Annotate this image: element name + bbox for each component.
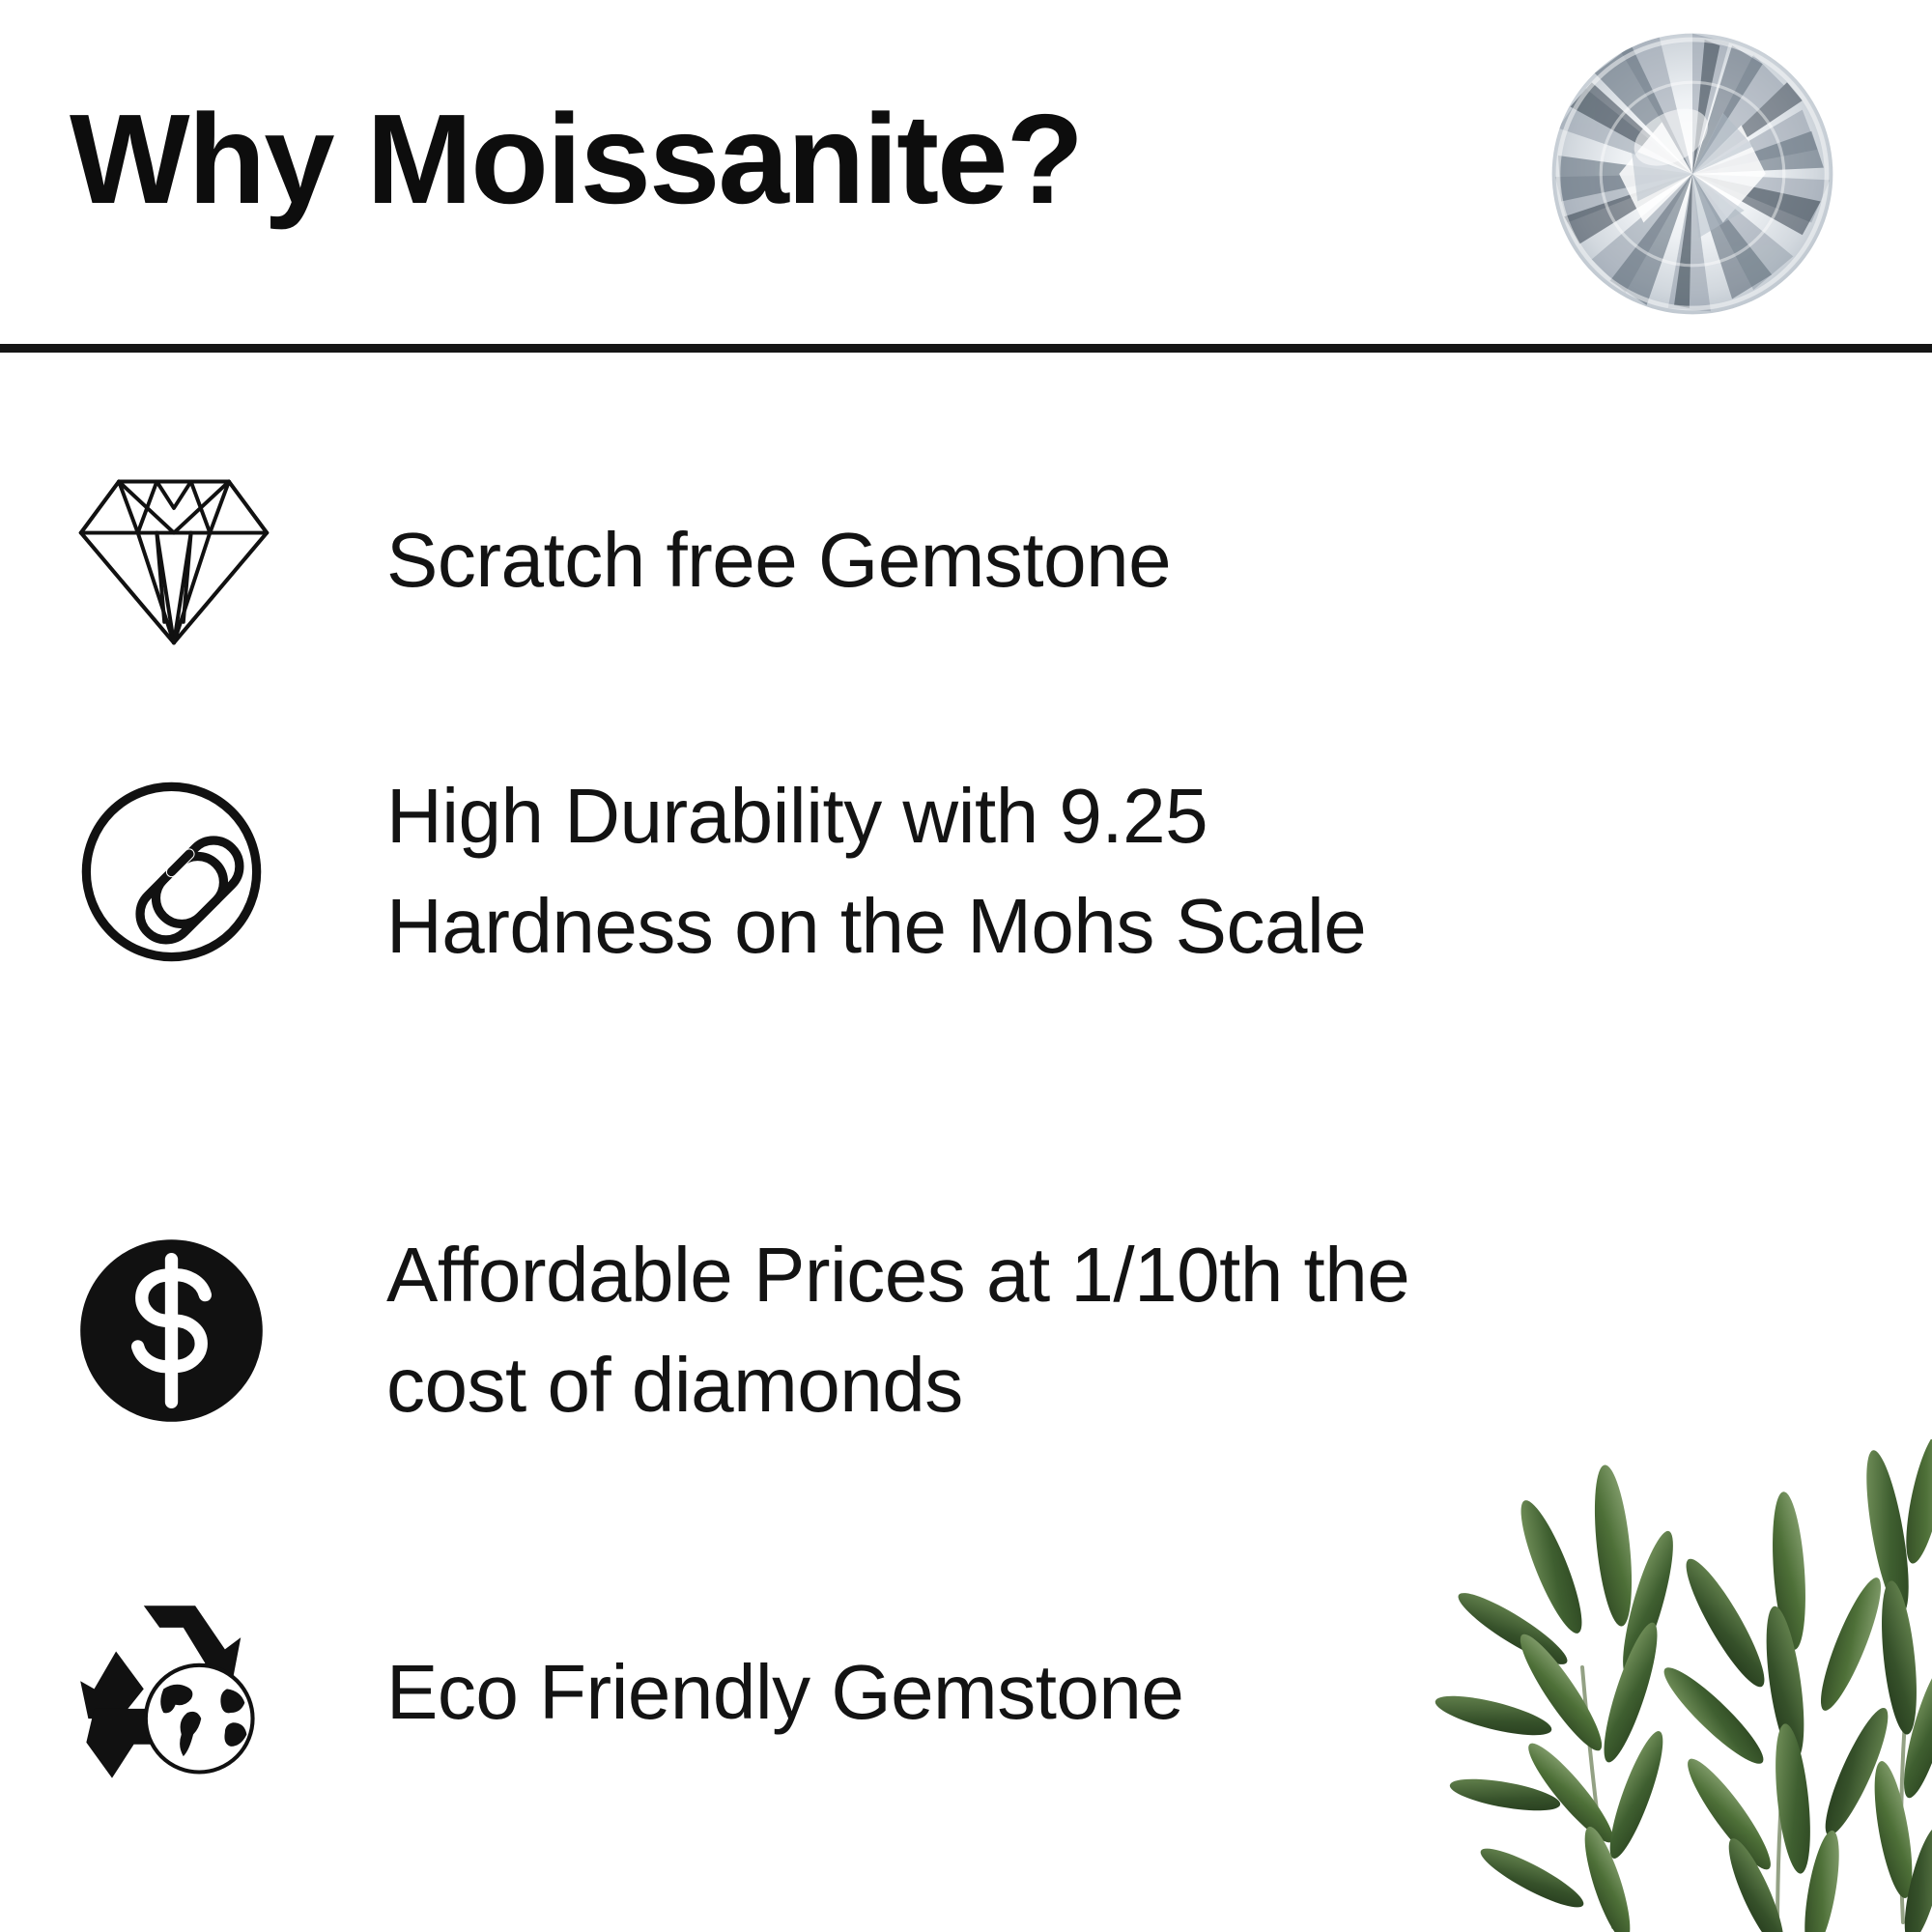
feature-row: Eco Friendly Gemstone [0,1557,1932,1828]
feature-row: Scratch free Gemstone [0,444,1932,676]
feature-list: Scratch free Gemstone [0,350,1932,1932]
feature-row: Affordable Prices at 1/10th the cost of … [0,1195,1932,1465]
feature-row: High Durability with 9.25 Hardness on th… [0,736,1932,1007]
feature-text-line: High Durability with 9.25 [386,761,1874,871]
header: Why Moissanite? [0,0,1932,350]
feature-text: Affordable Prices at 1/10th the cost of … [386,1220,1874,1439]
infographic-canvas: Why Moissanite? [0,0,1932,1932]
diamond-outline-icon [70,469,278,652]
feature-text: Scratch free Gemstone [386,505,1874,615]
feature-text-line: Eco Friendly Gemstone [386,1637,1874,1747]
moissanite-gemstone-icon [1540,21,1845,327]
page-title: Why Moissanite? [70,93,1082,227]
chain-link-in-circle-icon [72,773,270,971]
feature-text-line: Hardness on the Mohs Scale [386,871,1874,981]
feature-text: Eco Friendly Gemstone [386,1637,1874,1747]
dollar-sign-circle-icon [72,1232,270,1430]
feature-text: High Durability with 9.25 Hardness on th… [386,761,1874,980]
feature-text-line: cost of diamonds [386,1330,1874,1440]
recycle-globe-icon [72,1594,270,1792]
feature-text-line: Affordable Prices at 1/10th the [386,1220,1874,1330]
feature-text-line: Scratch free Gemstone [386,505,1874,615]
